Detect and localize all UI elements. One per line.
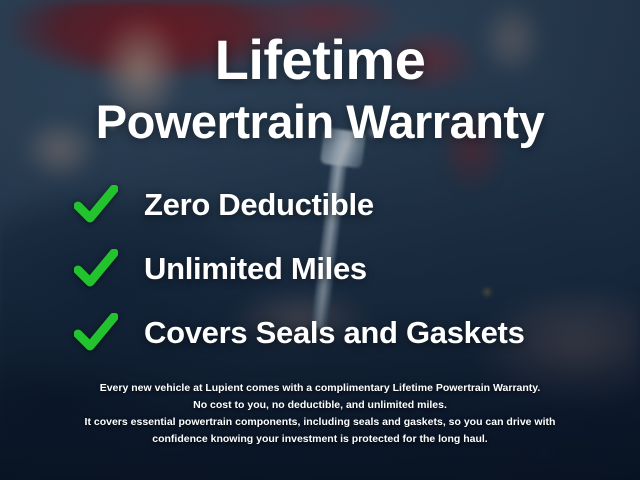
footnote-line-1: Every new vehicle at Lupient comes with …: [34, 380, 606, 397]
feature-label: Zero Deductible: [144, 187, 374, 223]
feature-item-covers-seals-and-gaskets: Covers Seals and Gaskets: [74, 313, 640, 353]
footnote-line-2: No cost to you, no deductible, and unlim…: [34, 397, 606, 414]
check-icon: [74, 185, 118, 225]
footnote-line-3: It covers essential powertrain component…: [34, 414, 606, 431]
banner-content: Lifetime Powertrain Warranty Zero Deduct…: [0, 0, 640, 480]
headline-line-2: Powertrain Warranty: [0, 98, 640, 145]
check-icon: [74, 249, 118, 289]
footnote-line-4: confidence knowing your investment is pr…: [34, 431, 606, 448]
check-icon: [74, 313, 118, 353]
feature-item-zero-deductible: Zero Deductible: [74, 185, 640, 225]
warranty-promo-banner: Lifetime Powertrain Warranty Zero Deduct…: [0, 0, 640, 480]
feature-list: Zero Deductible Unlimited Miles Covers S…: [0, 185, 640, 353]
feature-label: Covers Seals and Gaskets: [144, 315, 525, 351]
feature-label: Unlimited Miles: [144, 251, 367, 287]
footnote-disclaimer: Every new vehicle at Lupient comes with …: [0, 380, 640, 448]
headline-line-1: Lifetime: [0, 32, 640, 88]
feature-item-unlimited-miles: Unlimited Miles: [74, 249, 640, 289]
